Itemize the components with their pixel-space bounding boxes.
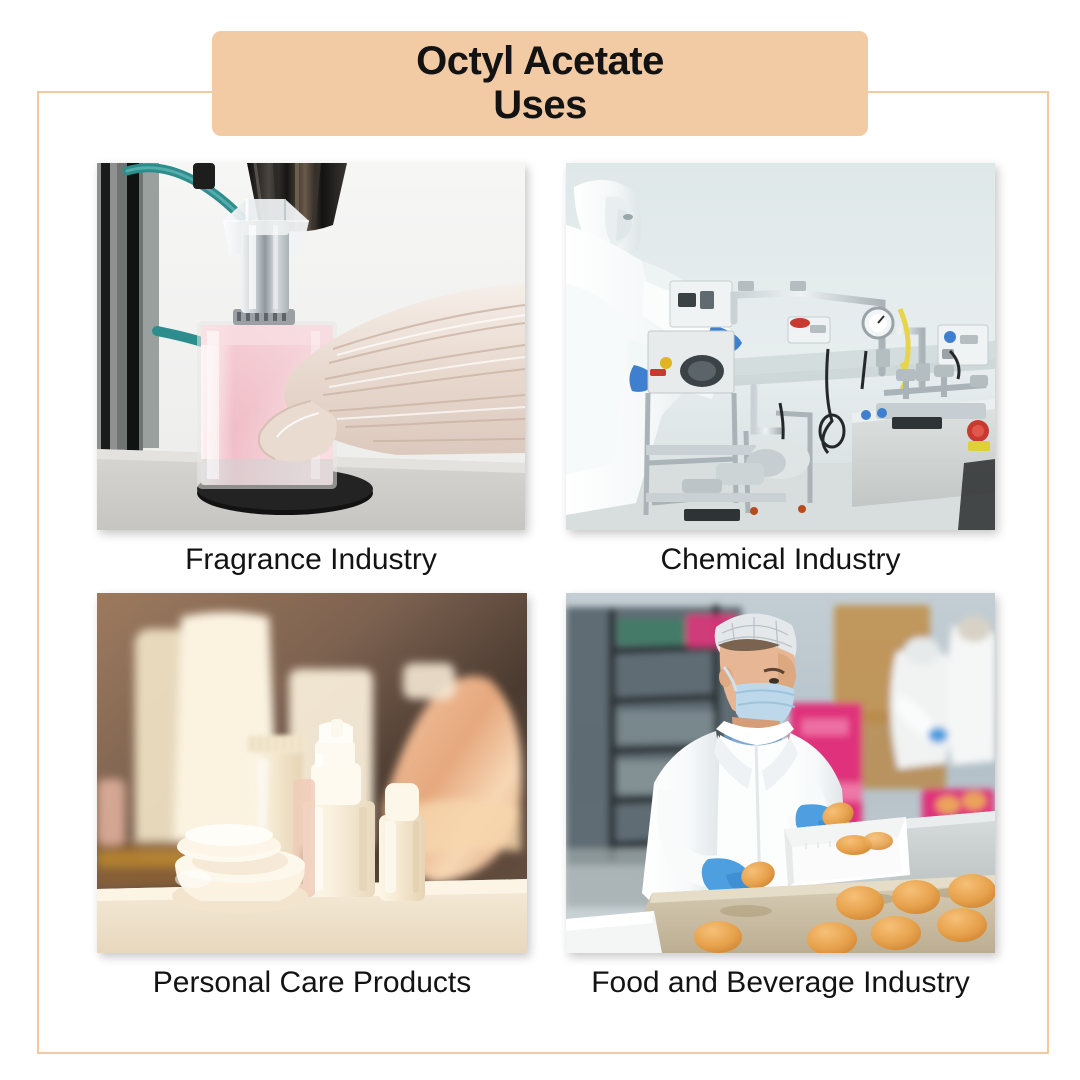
title-banner: Octyl Acetate Uses (212, 31, 868, 136)
caption-fragrance-industry: Fragrance Industry (97, 543, 525, 577)
caption-chemical-industry: Chemical Industry (566, 543, 995, 577)
use-card-fragrance-industry[interactable]: Fragrance Industry (97, 163, 525, 583)
photo-chemical-industry (566, 163, 995, 530)
uses-grid: Fragrance Industry (0, 0, 1080, 1080)
page-title-line-2: Uses (493, 84, 587, 127)
photo-fragrance-industry (97, 163, 525, 530)
caption-personal-care-products: Personal Care Products (97, 966, 527, 1000)
fragrance-scene-illustration (97, 163, 525, 530)
use-card-food-and-beverage-industry[interactable]: Food and Beverage Industry (566, 593, 995, 1008)
page-title-line-1: Octyl Acetate (416, 40, 664, 83)
photo-personal-care-products (97, 593, 527, 953)
photo-food-and-beverage-industry (566, 593, 995, 953)
chemical-scene-illustration (566, 163, 995, 530)
caption-food-and-beverage-industry: Food and Beverage Industry (566, 966, 995, 1000)
personal-care-scene-illustration (97, 593, 527, 953)
food-beverage-scene-illustration (566, 593, 995, 953)
use-card-personal-care-products[interactable]: Personal Care Products (97, 593, 527, 1008)
use-card-chemical-industry[interactable]: Chemical Industry (566, 163, 995, 583)
